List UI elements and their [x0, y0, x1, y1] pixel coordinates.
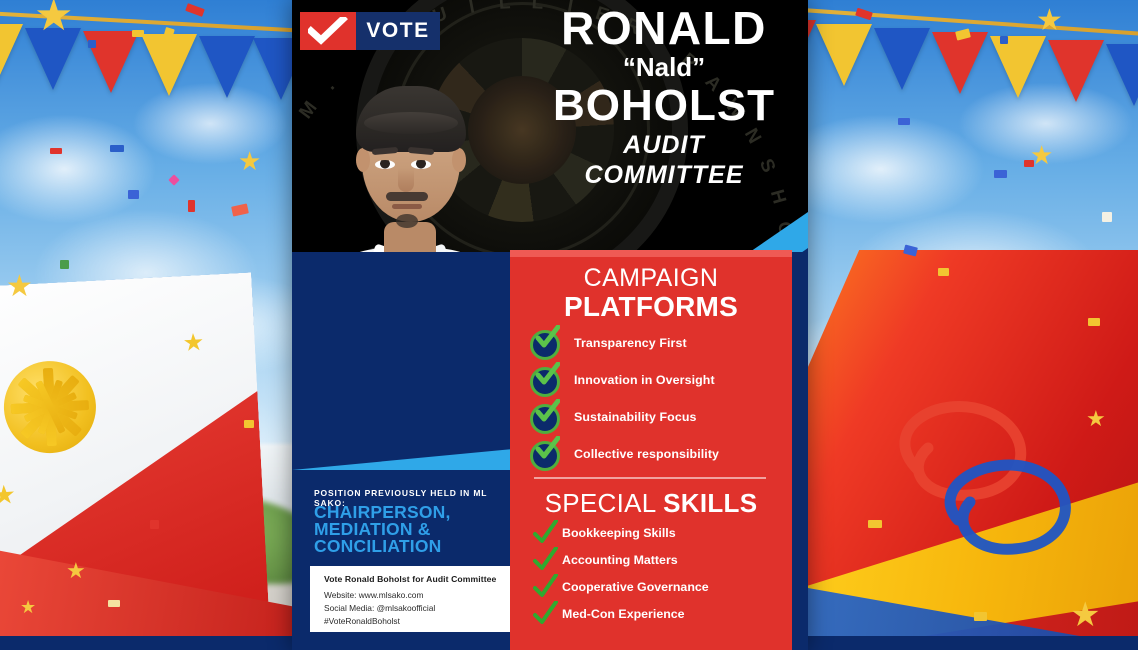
portrait-mouth: [392, 204, 422, 209]
cyan-corner-accent: [712, 212, 808, 252]
check-icon: [534, 399, 560, 425]
skill-item: Accounting Matters: [530, 549, 790, 576]
platform-label: Innovation in Oversight: [574, 373, 715, 387]
nickname: “Nald”: [520, 52, 808, 82]
platform-item: Innovation in Oversight: [530, 365, 780, 402]
platform-label: Collective responsibility: [574, 447, 719, 461]
bunting-flag: [808, 20, 816, 82]
campaign-poster: KOOPERATIBA NG M. LHUILLIER PAWNSHOP EMP…: [292, 0, 808, 650]
confetti-star: ★: [1086, 408, 1106, 430]
first-name: RONALD: [520, 4, 808, 52]
role-line-1: AUDIT: [520, 130, 808, 160]
confetti-star: ★: [238, 148, 261, 174]
poster-canvas: ★ ★ ★ ★ ★ ★ ★ ★: [0, 0, 1138, 650]
logo-text-char: H: [765, 187, 790, 208]
confetti-star: ★: [20, 598, 36, 616]
platform-item: Collective responsibility: [530, 439, 780, 476]
skill-label: Cooperative Governance: [562, 580, 709, 594]
portrait-ear: [452, 148, 466, 172]
platform-label: Transparency First: [574, 336, 687, 350]
confetti: [150, 520, 159, 529]
confetti: [1102, 212, 1112, 222]
portrait-eye: [375, 160, 395, 169]
platforms-heading-bold: PLATFORMS: [510, 291, 792, 323]
logo-text-char: I: [467, 0, 478, 19]
skill-label: Med-Con Experience: [562, 607, 685, 621]
skill-item: Bookkeeping Skills: [530, 522, 790, 549]
portrait-ear: [356, 148, 370, 172]
footer-hashtag[interactable]: #VoteRonaldBoholst: [324, 616, 400, 626]
footer-headline: Vote Ronald Boholst for Audit Committee: [324, 574, 496, 584]
platform-item: Transparency First: [530, 328, 780, 365]
vote-label-box: VOTE: [356, 12, 440, 50]
skills-heading: SPECIAL SKILLS: [510, 488, 792, 519]
bunting-flag: [253, 38, 292, 100]
footer-social[interactable]: Social Media: @mlsakoofficial: [324, 603, 435, 613]
bunting-flag: [141, 34, 197, 96]
portrait-moustache: [386, 192, 428, 201]
confetti: [110, 145, 124, 152]
skills-heading-bold: SKILLS: [663, 488, 757, 518]
confetti: [244, 420, 254, 428]
footer-contact-card: Vote Ronald Boholst for Audit Committee …: [310, 566, 524, 632]
panel-top-highlight: [510, 250, 792, 257]
logo-text-char: L: [498, 0, 513, 15]
portrait-nose: [398, 168, 414, 192]
check-icon: [534, 325, 560, 351]
confetti: [88, 40, 96, 48]
portrait-hair: [356, 86, 466, 152]
bunting-flag: [874, 28, 930, 90]
bunting-flag: [990, 36, 1046, 98]
bunting-flag: [199, 36, 255, 98]
check-icon: [532, 547, 558, 573]
bunting-flag: [1106, 44, 1138, 106]
platform-item: Sustainability Focus: [530, 402, 780, 439]
footer-website[interactable]: Website: www.mlsako.com: [324, 590, 423, 600]
confetti: [188, 200, 195, 212]
skill-label: Accounting Matters: [562, 553, 678, 567]
confetti: [50, 148, 62, 154]
vote-check-box: [300, 12, 356, 50]
poster-hero: KOOPERATIBA NG M. LHUILLIER PAWNSHOP EMP…: [292, 0, 808, 252]
skills-heading-light: SPECIAL: [545, 488, 664, 518]
confetti: [132, 30, 144, 37]
vote-label: VOTE: [366, 19, 429, 43]
confetti-star: ★: [34, 0, 73, 38]
confetti: [832, 24, 844, 31]
portrait-eye: [411, 160, 431, 169]
bunting-flag: [0, 24, 23, 86]
background-left-festive: ★ ★ ★ ★ ★ ★ ★ ★: [0, 0, 292, 650]
confetti: [60, 260, 69, 269]
confetti-star: ★: [1036, 6, 1063, 36]
confetti: [994, 170, 1007, 178]
bunting-garland-right: [808, 0, 1138, 114]
skill-item: Med-Con Experience: [530, 603, 790, 630]
check-icon: [532, 520, 558, 546]
confetti: [938, 268, 949, 276]
confetti: [1024, 160, 1034, 167]
background-right-festive: ★ ★ ★ ★: [808, 0, 1138, 650]
section-divider: [534, 477, 766, 479]
check-icon: [534, 436, 560, 462]
candidate-name-block: RONALD “Nald” BOHOLST AUDIT COMMITTEE: [520, 4, 808, 190]
check-icon: [532, 574, 558, 600]
check-icon: [308, 17, 348, 45]
bunting-flag: [816, 24, 872, 86]
check-icon: [534, 362, 560, 388]
flag-star-icon: ★: [0, 481, 16, 508]
vote-badge[interactable]: VOTE: [300, 12, 440, 50]
platforms-panel: CAMPAIGN PLATFORMS Transparency First In…: [510, 250, 792, 650]
platform-label: Sustainability Focus: [574, 410, 697, 424]
skill-label: Bookkeeping Skills: [562, 526, 676, 540]
confetti: [1088, 318, 1100, 326]
last-name: BOHOLST: [520, 82, 808, 130]
position-title: CHAIRPERSON, MEDIATION & CONCILIATION: [314, 504, 519, 555]
confetti: [868, 520, 882, 528]
bunting-flag: [1048, 40, 1104, 102]
flag-star-icon: ★: [182, 331, 205, 356]
confetti: [974, 612, 987, 621]
portrait-goatee: [396, 214, 418, 228]
confetti-star: ★: [66, 560, 86, 582]
check-icon: [532, 601, 558, 627]
confetti: [128, 190, 139, 199]
candidate-portrait: [292, 36, 524, 252]
bunting-flag: [932, 32, 988, 94]
platforms-list: Transparency First Innovation in Oversig…: [530, 328, 780, 476]
confetti-star: ★: [1070, 598, 1100, 632]
skills-list: Bookkeeping Skills Accounting Matters Co…: [530, 522, 790, 630]
confetti-star: ★: [6, 272, 33, 302]
confetti: [108, 600, 120, 607]
position-title-line-3: CONCILIATION: [314, 538, 519, 555]
confetti: [1000, 36, 1008, 44]
confetti: [898, 118, 910, 125]
skill-item: Cooperative Governance: [530, 576, 790, 603]
platforms-heading-light: CAMPAIGN: [510, 264, 792, 293]
role-line-2: COMMITTEE: [520, 160, 808, 190]
